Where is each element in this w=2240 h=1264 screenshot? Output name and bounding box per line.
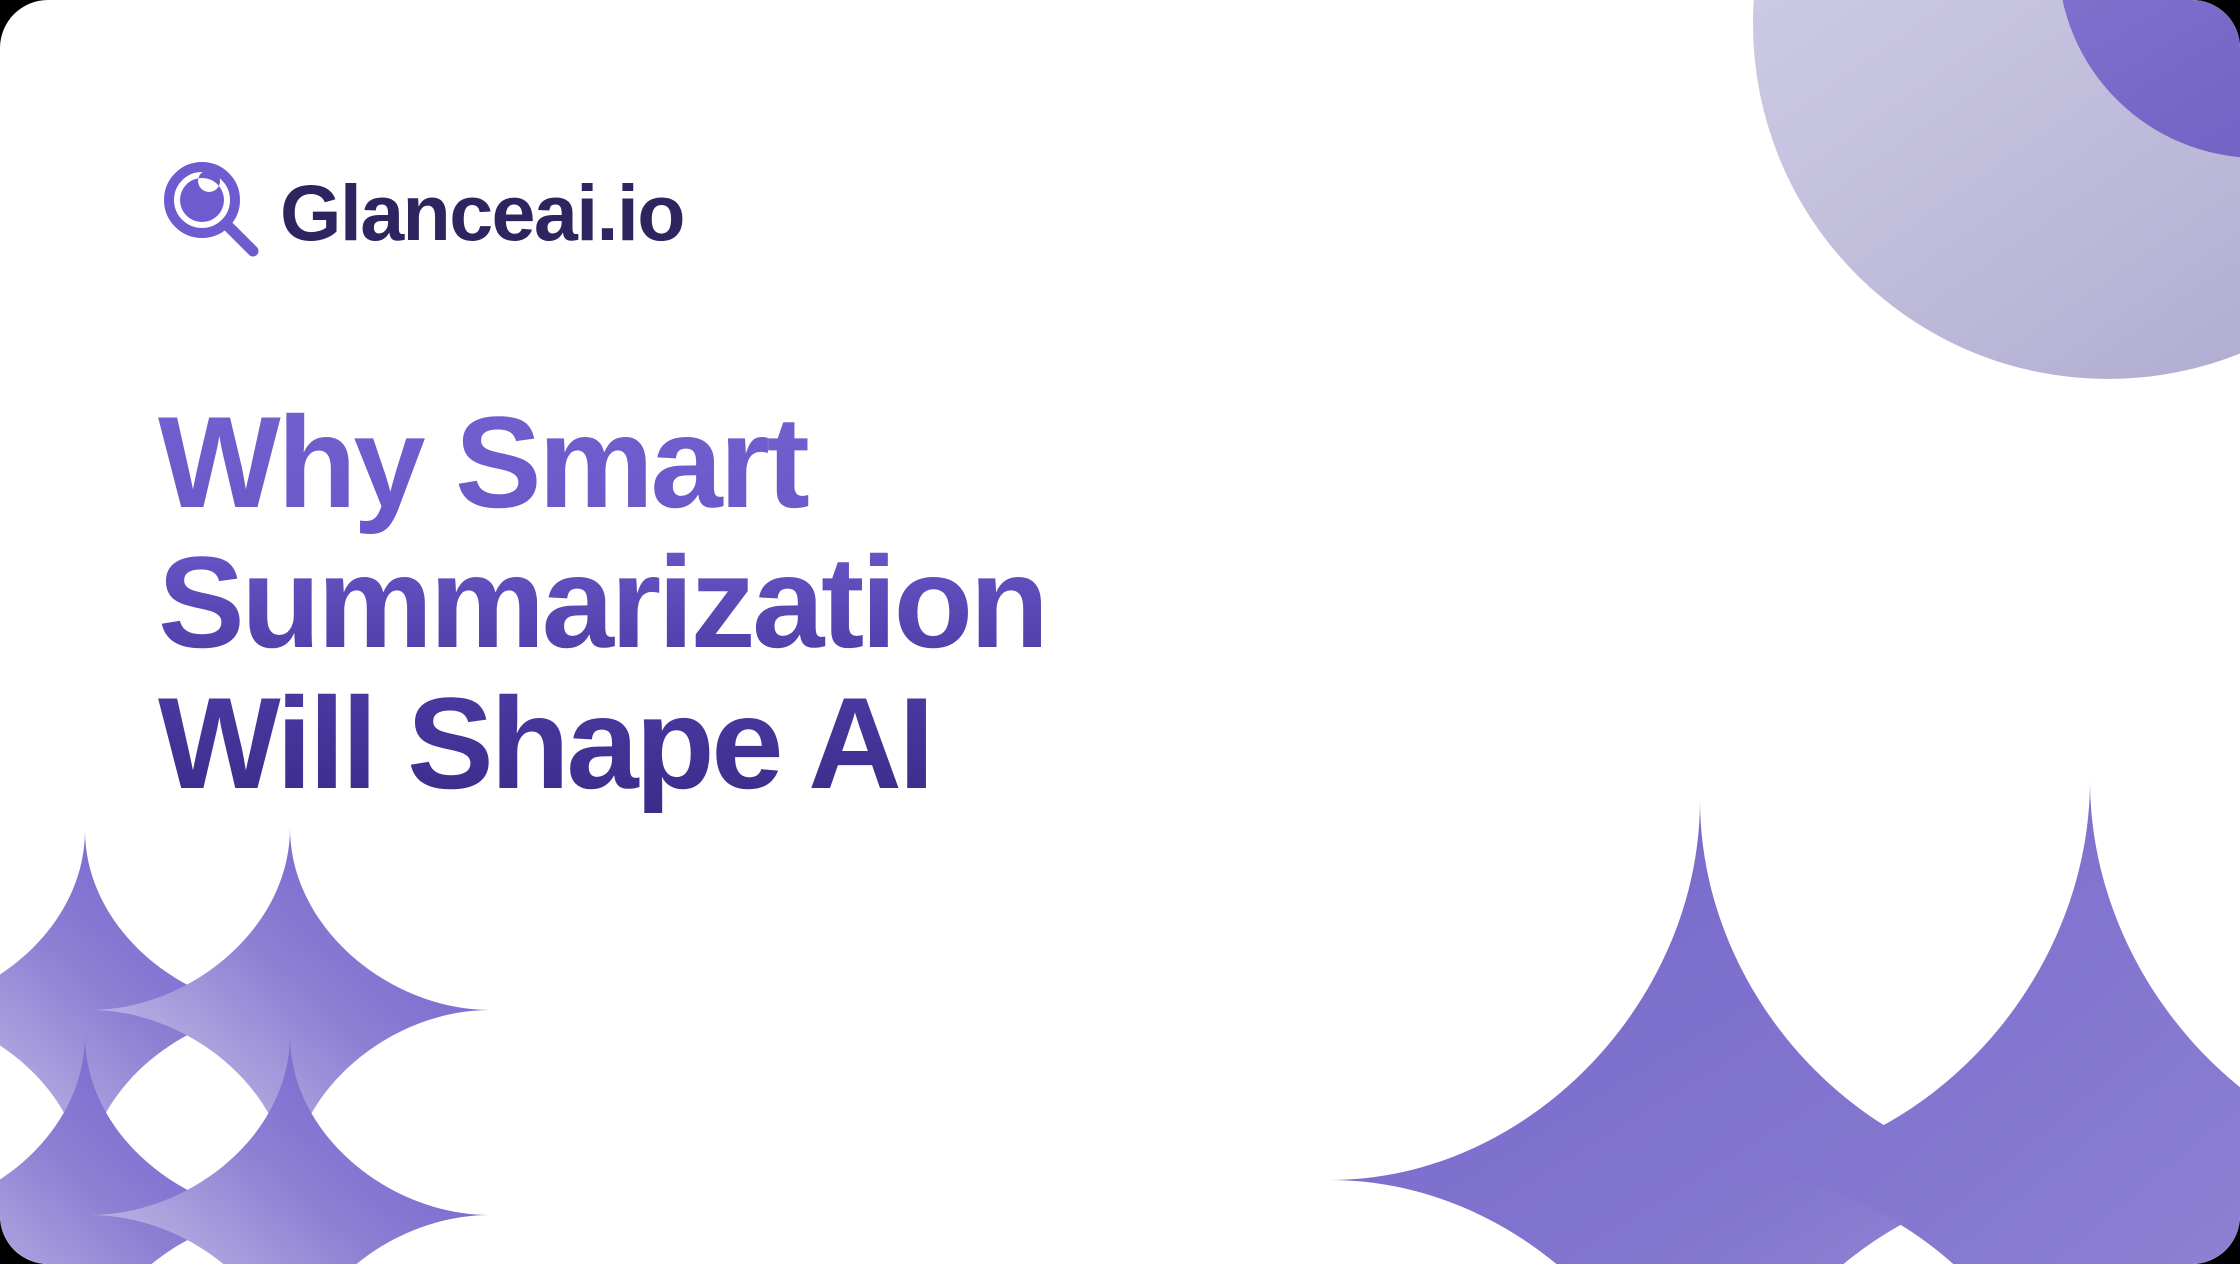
card-content: Glanceai.io Why Smart Summarization Will… — [0, 0, 2240, 1264]
magnifier-eye-icon — [158, 158, 262, 262]
blog-cover-card: Glanceai.io Why Smart Summarization Will… — [0, 0, 2240, 1264]
page-title-line-1: Why Smart Summarization — [158, 392, 1718, 673]
brand-name: Glanceai.io — [280, 173, 684, 252]
page-title: Why Smart Summarization Will Shape AI — [158, 392, 1718, 813]
brand-lockup[interactable]: Glanceai.io — [158, 158, 684, 262]
page-title-line-2: Will Shape AI — [158, 673, 1718, 813]
